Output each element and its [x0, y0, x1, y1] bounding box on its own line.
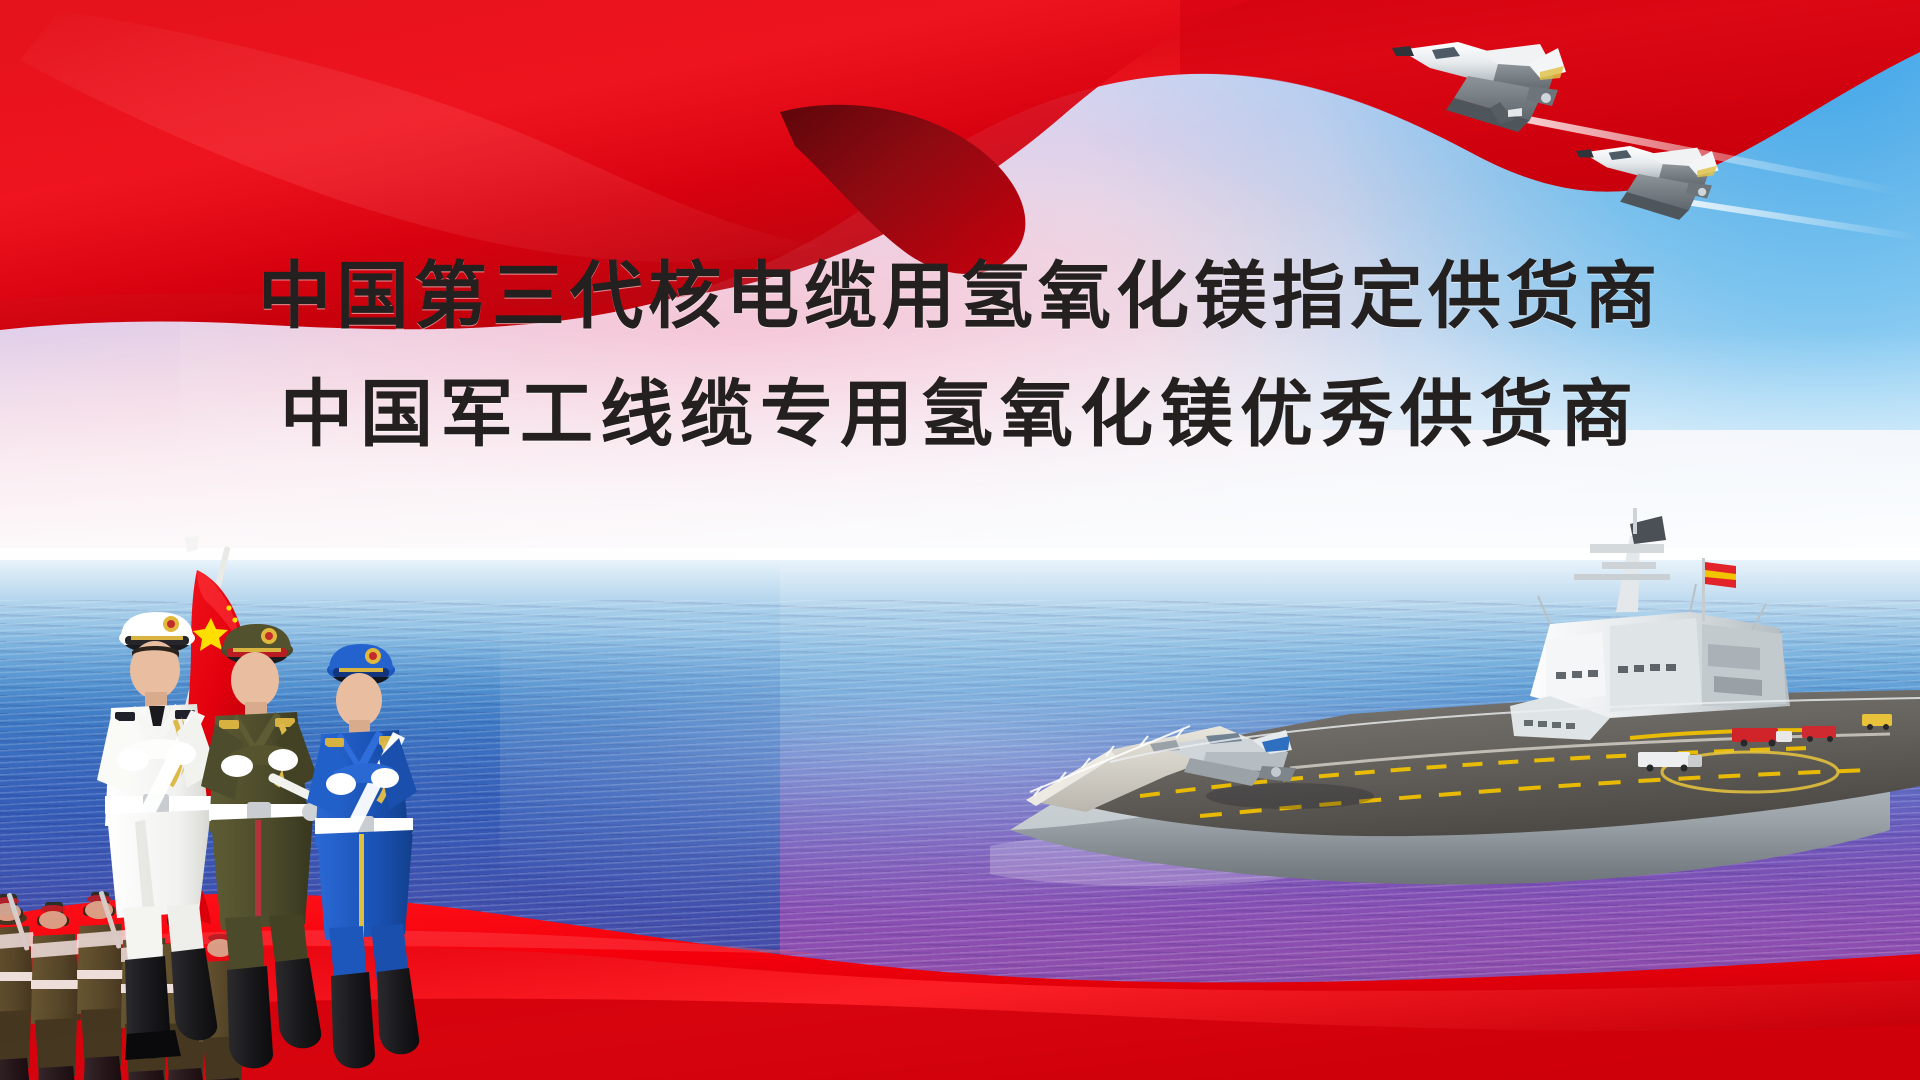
navy-tunic	[105, 704, 209, 826]
carrier-wake	[990, 834, 1340, 886]
airforce-trouser-stripe	[359, 834, 364, 940]
flag-pole-finial	[185, 536, 199, 552]
horizon-glow	[0, 548, 1920, 618]
fighter-jet-group	[1380, 20, 1920, 250]
contrail-lead	[1506, 112, 1900, 196]
island-flag	[1702, 558, 1736, 622]
rear-guard-4	[121, 906, 171, 1080]
airforce-glove-left	[326, 773, 356, 795]
airforce-cap-cord	[339, 668, 383, 672]
army-belt-buckle	[247, 802, 271, 823]
navy-face	[130, 641, 180, 699]
army-face	[231, 652, 279, 708]
navy-shoulder-board-r	[175, 710, 195, 719]
army-glove-right	[268, 749, 298, 771]
airforce-cap-band	[333, 668, 389, 677]
airforce-belt	[315, 818, 413, 834]
navy-glove-right	[166, 743, 196, 765]
rear-guard-6	[199, 934, 245, 1080]
island-radar-panel	[1708, 644, 1760, 670]
army-glove-left	[221, 755, 253, 777]
airforce-forearms	[333, 763, 393, 790]
navy-belt-buckle	[143, 794, 169, 816]
navy-cap-badge	[163, 616, 179, 632]
deck-vehicle-yellow	[1862, 714, 1892, 730]
carrier-island	[1530, 508, 1790, 718]
airforce-glove-right	[371, 768, 399, 788]
deck-landing-circle	[1662, 752, 1838, 792]
guard-navy	[97, 612, 217, 1060]
banner-root: 中国第三代核电缆用氢氧化镁指定供货商 中国军工线缆专用氢氧化镁优秀供货商	[0, 0, 1920, 1080]
navy-cap-band	[125, 636, 189, 645]
deck-markings	[1140, 730, 1870, 816]
army-cap	[221, 638, 293, 662]
ocean-shimmer	[500, 620, 1600, 920]
flag-sheen	[20, 10, 820, 262]
carrier-sponson	[1510, 696, 1610, 740]
airforce-cap-visor	[333, 677, 389, 685]
airforce-boot-left	[331, 972, 375, 1068]
navy-arm-left	[97, 716, 141, 794]
flag-star-small-4	[225, 643, 230, 648]
airforce-tunic	[315, 730, 409, 846]
island-windows	[1556, 664, 1676, 679]
army-cap-badge	[261, 628, 277, 644]
army-shoulder-board-l	[219, 720, 239, 729]
flag-pole	[152, 546, 230, 839]
army-boot-left	[227, 966, 273, 1068]
flag-cloth-highlight	[197, 570, 241, 644]
flag-star-large	[193, 618, 228, 651]
deck-vehicle-firetruck	[1732, 728, 1792, 747]
flag-right-wave	[1180, 0, 1920, 192]
navy-leg-right	[167, 904, 205, 966]
guard-army	[201, 624, 345, 1068]
army-arm-left	[201, 724, 243, 800]
ocean-left-blue	[0, 560, 780, 1080]
navy-cross-strap	[135, 710, 205, 826]
deck-aircraft-shadow	[1206, 783, 1374, 809]
fighter-jet-lead	[1392, 42, 1566, 132]
rear-guard-1	[0, 892, 35, 1080]
army-cap-cord	[233, 648, 281, 652]
army-cap-visor	[227, 657, 287, 665]
title-line-1: 中国第三代核电缆用氢氧化镁指定供货商	[0, 238, 1920, 356]
airforce-shoulder-board-l	[325, 738, 344, 747]
ocean	[0, 560, 1920, 1080]
flag-cloth-lower	[165, 786, 211, 924]
flag-star-small-1	[226, 605, 231, 610]
ramp-railing	[1030, 726, 1190, 796]
guard-airforce	[307, 644, 419, 1068]
island-mast	[1574, 508, 1670, 612]
national-flag	[152, 536, 248, 924]
airforce-face	[336, 673, 382, 727]
ocean-ripples	[0, 600, 1920, 1080]
army-baton-tip	[302, 803, 320, 821]
navy-cap-cord	[131, 636, 183, 640]
army-trouser-stripe	[255, 820, 261, 930]
army-boot-right	[275, 958, 321, 1048]
army-belt	[209, 804, 313, 821]
airforce-boot-right	[377, 968, 419, 1054]
carrier-flight-deck	[1060, 690, 1920, 836]
aircraft-carrier	[990, 500, 1920, 920]
carrier-hull	[1010, 726, 1890, 885]
airforce-shoulder-board-r	[379, 736, 398, 745]
rear-guard-2	[31, 902, 81, 1080]
deck-vehicle-tractor	[1802, 726, 1836, 742]
airforce-cap	[327, 658, 395, 682]
army-arm-right	[277, 720, 317, 794]
navy-cap	[119, 625, 195, 651]
airforce-cap-badge	[365, 648, 381, 664]
army-tunic	[209, 712, 309, 832]
navy-arm-right	[177, 712, 217, 788]
airforce-belt-buckle	[351, 816, 374, 836]
deck-markings-white	[1290, 734, 1890, 768]
navy-leg-left	[123, 906, 163, 972]
ramp-edge	[1026, 750, 1116, 806]
airforce-cross-strap	[341, 732, 405, 842]
deck-edge-railing	[1110, 698, 1920, 762]
airforce-arm-left	[307, 742, 347, 816]
navy-shoulder-board-l	[115, 712, 135, 721]
army-baton	[267, 772, 345, 816]
ribbon-overlay	[0, 947, 1920, 1080]
navy-skirt	[107, 810, 211, 918]
title-block: 中国第三代核电缆用氢氧化镁指定供货商 中国军工线缆专用氢氧化镁优秀供货商	[0, 238, 1920, 474]
flag-cloth	[179, 570, 247, 864]
navy-glove-left	[117, 749, 149, 771]
flag-star-small-3	[232, 631, 237, 636]
honor-guard-formation	[0, 520, 505, 1080]
army-forearms	[229, 745, 291, 772]
deck-aircraft-j15	[1150, 730, 1296, 786]
navy-necktie	[149, 706, 165, 726]
island-radar-panel-lower	[1714, 676, 1762, 696]
flag-star-small-2	[232, 617, 237, 622]
army-shoulder-board-r	[275, 718, 295, 727]
honor-guard-rear-rank	[0, 890, 245, 1080]
navy-boot-right	[171, 948, 217, 1040]
airforce-arm-right	[379, 738, 417, 810]
contrail-wing	[1679, 198, 1918, 241]
carrier-hull-highlight	[1010, 726, 1890, 830]
navy-forearms	[125, 739, 189, 766]
ski-jump-ramp	[1026, 726, 1258, 812]
island-antennas	[1538, 584, 1766, 630]
rear-guard-3	[77, 890, 127, 1080]
airforce-trousers	[317, 830, 413, 940]
title-line-2: 中国军工线缆专用氢氧化镁优秀供货商	[0, 356, 1920, 474]
navy-belt	[105, 796, 213, 814]
army-trousers	[211, 816, 313, 930]
fighter-jet-wing	[1576, 146, 1719, 220]
ribbon-lower-fold	[0, 999, 1920, 1080]
ribbon-sheen	[60, 930, 820, 954]
red-ribbon-banner	[0, 820, 1920, 1080]
sponson-windows	[1524, 720, 1575, 729]
rear-guard-5	[161, 916, 209, 1080]
navy-boot-left	[125, 956, 171, 1058]
navy-aiguillette	[181, 716, 189, 776]
ribbon-main	[0, 894, 1920, 1080]
deck-vehicle-support	[1638, 752, 1702, 772]
airforce-aiguillette	[379, 742, 389, 802]
navy-cap-visor	[125, 645, 189, 653]
sky-gradient	[0, 0, 1920, 1080]
army-aiguillette	[277, 724, 287, 786]
army-cap-band	[227, 648, 287, 657]
